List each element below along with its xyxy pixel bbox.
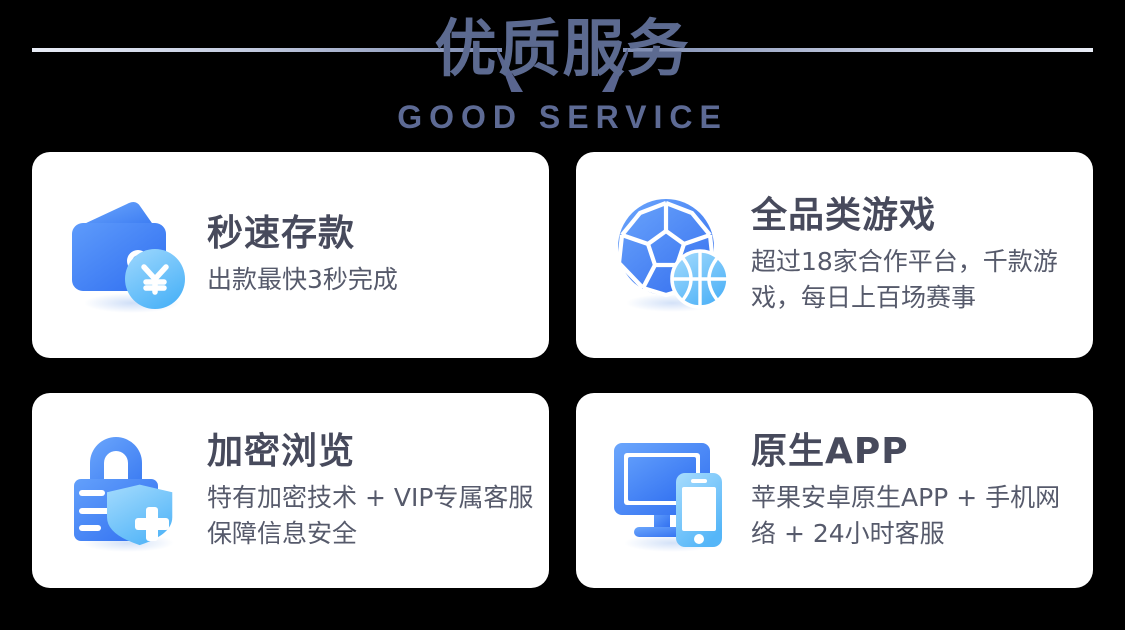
feature-card-encryption[interactable]: 加密浏览 特有加密技术 + VIP专属客服保障信息安全 bbox=[32, 393, 549, 588]
feature-card-text: 秒速存款 出款最快3秒完成 bbox=[197, 212, 410, 298]
feature-card-deposit[interactable]: 秒速存款 出款最快3秒完成 bbox=[32, 152, 549, 358]
monitor-phone-icon bbox=[606, 423, 741, 558]
feature-title: 原生APP bbox=[751, 430, 1081, 474]
good-service-feature-panel: 优质服务 GOOD SERVICE bbox=[0, 0, 1125, 630]
feature-subtitle: 特有加密技术 + VIP专属客服保障信息安全 bbox=[207, 480, 537, 552]
feature-subtitle: 苹果安卓原生APP + 手机网络 + 24小时客服 bbox=[751, 480, 1081, 552]
feature-card-games[interactable]: 全品类游戏 超过18家合作平台，千款游戏，每日上百场赛事 bbox=[576, 152, 1093, 358]
soccer-basketball-icon bbox=[606, 188, 741, 323]
feature-card-text: 全品类游戏 超过18家合作平台，千款游戏，每日上百场赛事 bbox=[741, 194, 1093, 316]
section-header: 优质服务 GOOD SERVICE bbox=[0, 0, 1125, 150]
page-subtitle: GOOD SERVICE bbox=[0, 98, 1125, 136]
feature-title: 秒速存款 bbox=[207, 212, 398, 256]
feature-title: 加密浏览 bbox=[207, 430, 537, 474]
lock-shield-icon bbox=[62, 423, 197, 558]
wallet-yen-icon bbox=[62, 188, 197, 323]
feature-subtitle: 超过18家合作平台，千款游戏，每日上百场赛事 bbox=[751, 244, 1081, 316]
feature-subtitle: 出款最快3秒完成 bbox=[207, 262, 398, 298]
feature-title: 全品类游戏 bbox=[751, 194, 1081, 238]
feature-card-text: 加密浏览 特有加密技术 + VIP专属客服保障信息安全 bbox=[197, 430, 549, 552]
feature-card-text: 原生APP 苹果安卓原生APP + 手机网络 + 24小时客服 bbox=[741, 430, 1093, 552]
feature-card-native-app[interactable]: 原生APP 苹果安卓原生APP + 手机网络 + 24小时客服 bbox=[576, 393, 1093, 588]
feature-card-grid: 秒速存款 出款最快3秒完成 bbox=[32, 152, 1093, 588]
page-title: 优质服务 bbox=[0, 14, 1125, 84]
